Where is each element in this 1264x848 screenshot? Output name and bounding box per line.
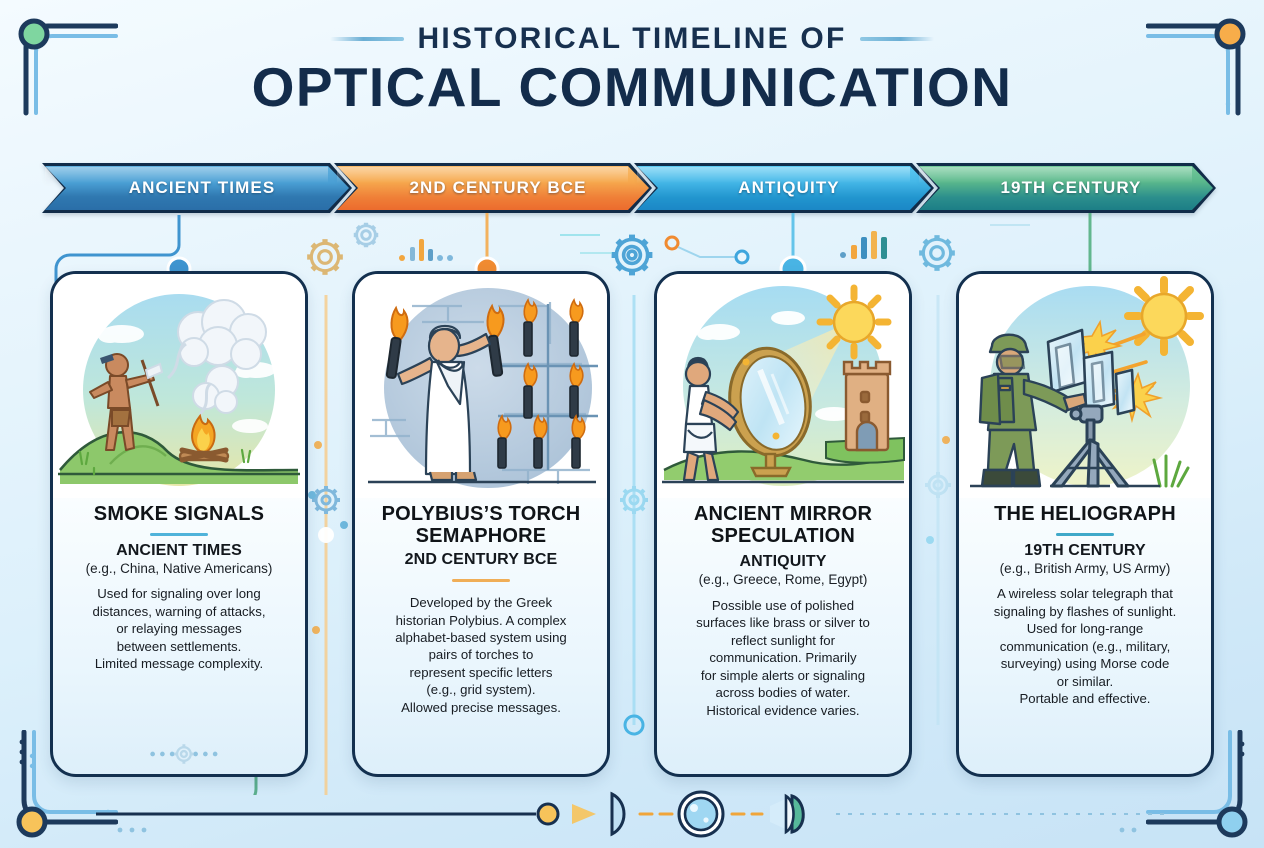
title-rule-right [860,37,934,41]
timeline-segment-label: 2ND CENTURY BCE [399,178,586,198]
page-title: OPTICAL COMMUNICATION [0,58,1264,117]
card-divider [1056,533,1114,536]
gear-icon [174,744,194,764]
card-era-sub: (e.g., China, Native Americans) [86,561,273,578]
card-description: Possible use of polished surfaces like b… [692,597,874,719]
timeline-segment-label: ANTIQUITY [728,178,840,198]
light-node-icon [538,804,558,824]
card-title: POLYBIUS’S TORCH SEMAPHORE [382,504,581,547]
bottom-optics-strip [0,782,1264,848]
card-description: Used for signaling over long distances, … [89,585,270,672]
card-era-sub: (e.g., Greece, Rome, Egypt) [699,572,868,589]
aperture-lens-icon [679,792,723,836]
gear-icon [307,239,343,275]
card-body: THE HELIOGRAPH 19TH CENTURY (e.g., Briti… [959,498,1211,707]
card-era: 19TH CENTURY [1024,542,1146,560]
card-title: SMOKE SIGNALS [94,504,264,526]
timeline-segment-label: 19TH CENTURY [990,178,1141,198]
title-rule-left [330,37,404,41]
card-polybius-torch-semaphore[interactable]: POLYBIUS’S TORCH SEMAPHORE 2ND CENTURY B… [352,271,610,777]
card-divider [452,579,510,582]
card-era: ANCIENT TIMES [116,542,242,560]
card-title: ANCIENT MIRROR SPECULATION [694,504,872,547]
card-footer-decoration [53,742,305,766]
gear-icon [354,223,378,247]
page-title-kicker: HISTORICAL TIMELINE OF [418,22,847,56]
smoke-signal-illustration [53,274,305,498]
card-body: ANCIENT MIRROR SPECULATION ANTIQUITY (e.… [657,498,909,719]
card-body: POLYBIUS’S TORCH SEMAPHORE 2ND CENTURY B… [355,498,607,716]
card-the-heliograph[interactable]: THE HELIOGRAPH 19TH CENTURY (e.g., Briti… [956,271,1214,777]
card-era: ANTIQUITY [739,553,826,571]
prism-cone-icon [770,796,803,832]
mirror-speculation-illustration [657,274,909,498]
torch-semaphore-illustration [355,274,607,498]
decor-node-blue [736,251,748,263]
lens-icon [612,794,624,834]
timeline-segment-label: ANCIENT TIMES [119,178,276,198]
gear-icon [919,235,955,271]
card-divider [150,533,208,536]
card-smoke-signals[interactable]: SMOKE SIGNALS ANCIENT TIMES (e.g., China… [50,271,308,777]
gear-icon [612,235,653,276]
title-kicker-row: HISTORICAL TIMELINE OF [0,22,1264,56]
timeline-cards: SMOKE SIGNALS ANCIENT TIMES (e.g., China… [50,271,1214,777]
infographic-canvas: HISTORICAL TIMELINE OF OPTICAL COMMUNICA… [0,0,1264,848]
decor-node-orange [666,237,678,249]
heliograph-illustration [959,274,1211,498]
light-cone-icon [572,804,596,824]
card-description: Developed by the Greek historian Polybiu… [391,594,571,716]
bar-chart-icon [840,231,887,259]
card-title: THE HELIOGRAPH [994,504,1176,526]
card-body: SMOKE SIGNALS ANCIENT TIMES (e.g., China… [53,498,305,673]
card-era-sub: (e.g., British Army, US Army) [1000,561,1171,578]
card-description: A wireless solar telegraph that signalin… [990,585,1181,707]
card-ancient-mirror-speculation[interactable]: ANCIENT MIRROR SPECULATION ANTIQUITY (e.… [654,271,912,777]
card-era: 2ND CENTURY BCE [405,551,558,569]
page-title-block: HISTORICAL TIMELINE OF OPTICAL COMMUNICA… [0,22,1264,117]
bar-chart-icon [399,239,453,261]
